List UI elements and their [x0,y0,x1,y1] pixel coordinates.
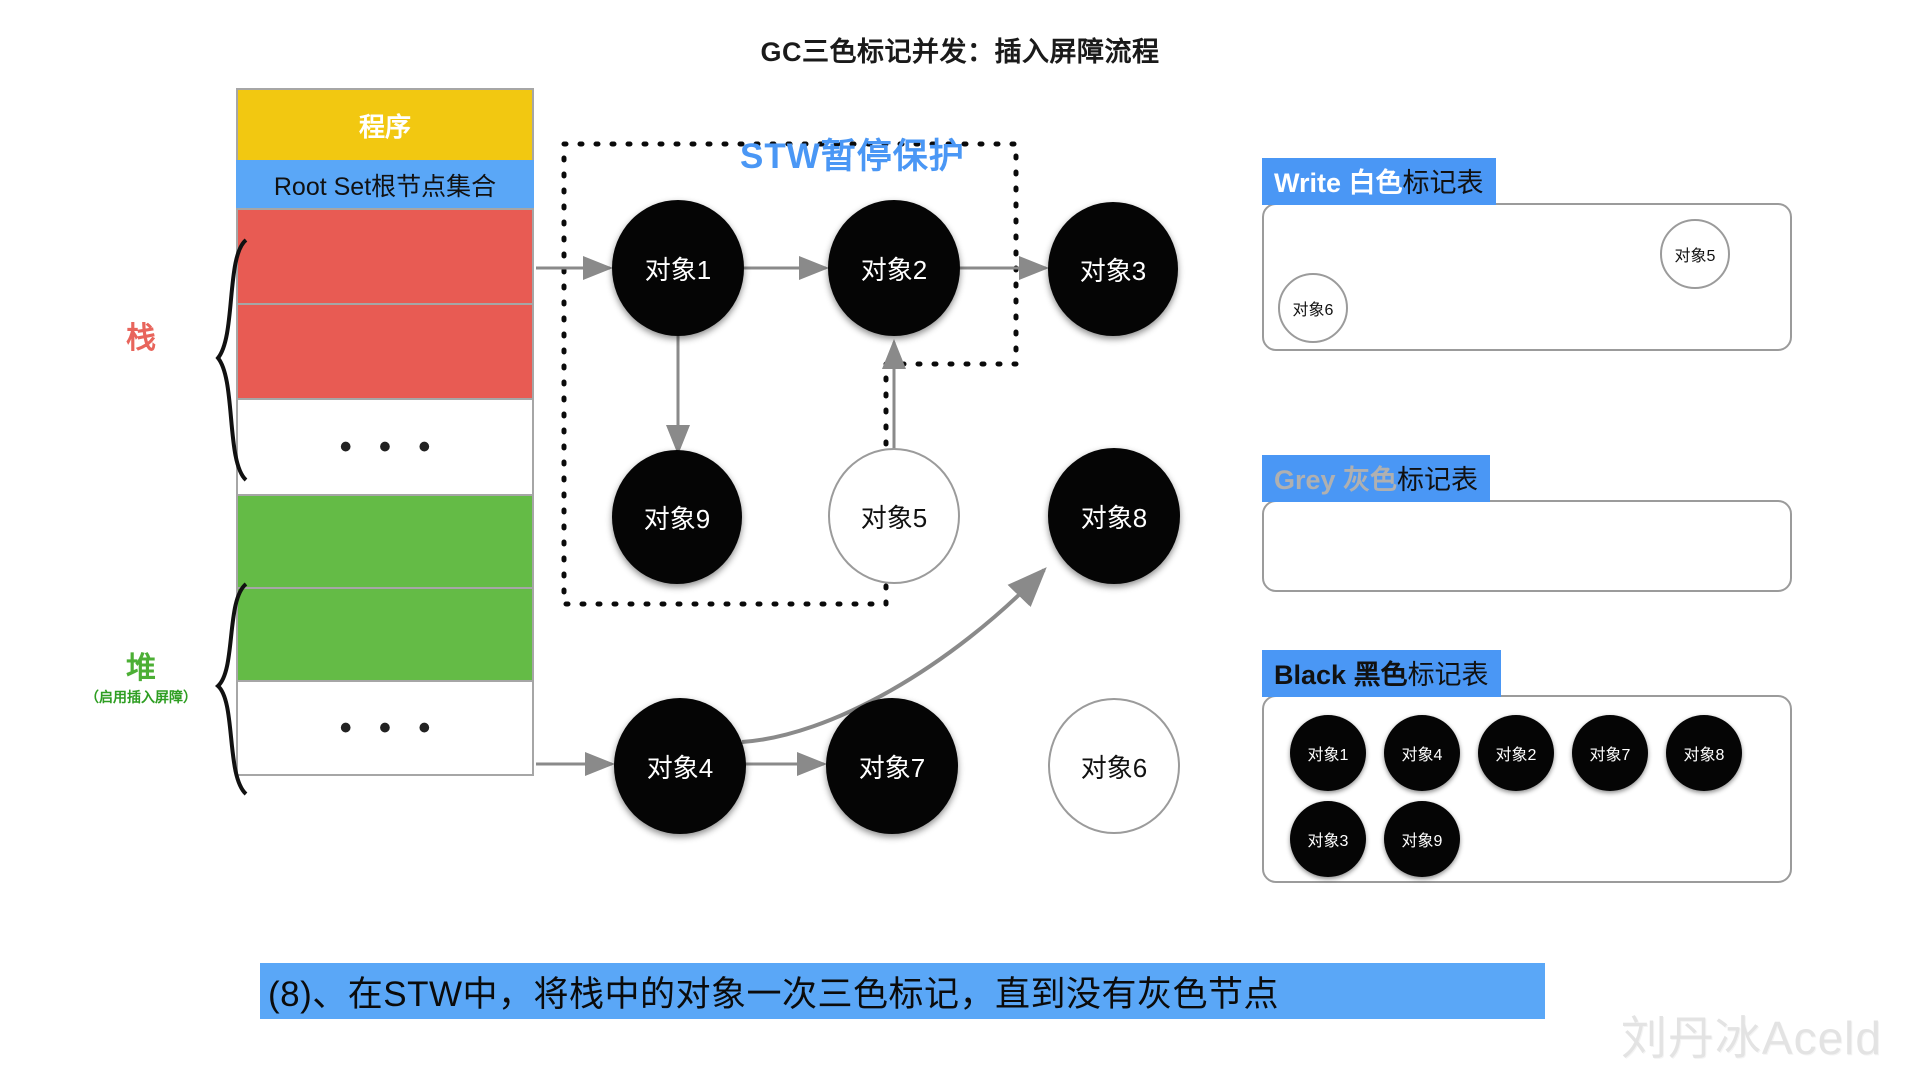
mark-chip[interactable]: 对象9 [1384,801,1460,877]
watermark: 刘丹冰Aceld [1621,1002,1882,1068]
header-rest: 标记表 [1403,168,1484,198]
node-label: 对象3 [1080,251,1146,288]
header-rest: 标记表 [1408,660,1489,690]
node-label: 对象6 [1081,748,1147,785]
graph-node-obj1[interactable]: 对象1 [612,200,744,336]
chip-label: 对象7 [1590,741,1631,765]
node-label: 对象4 [647,748,713,785]
header-color-cn: 黑色 [1354,660,1408,690]
white-mark-table-body: 对象5 对象6 [1262,203,1792,351]
mark-chip[interactable]: 对象4 [1384,715,1460,791]
header-en: Write [1274,168,1349,198]
graph-node-obj6[interactable]: 对象6 [1048,698,1180,834]
header-en: Black [1274,660,1354,690]
black-mark-table-header: Black 黑色标记表 [1262,650,1501,697]
node-label: 对象5 [861,498,927,535]
node-label: 对象8 [1081,498,1147,535]
caption-bar: (8)、在STW中，将栈中的对象一次三色标记，直到没有灰色节点 [260,963,1545,1019]
black-mark-table: Black 黑色标记表 对象1 对象4 对象2 对象7 对象8 对象3 对象9 [1262,650,1792,883]
mark-chip[interactable]: 对象6 [1278,273,1348,343]
chip-label: 对象4 [1402,741,1443,765]
node-label: 对象2 [861,250,927,287]
mark-chip[interactable]: 对象7 [1572,715,1648,791]
mark-chip[interactable]: 对象8 [1666,715,1742,791]
chip-label: 对象2 [1496,741,1537,765]
mark-chip[interactable]: 对象3 [1290,801,1366,877]
chip-label: 对象9 [1402,827,1443,851]
mark-chip[interactable]: 对象1 [1290,715,1366,791]
graph-node-obj5[interactable]: 对象5 [828,448,960,584]
stw-title: STW暂停保护 [740,128,965,179]
header-en: Grey [1274,465,1343,495]
graph-node-obj2[interactable]: 对象2 [828,200,960,336]
white-mark-table-header: Write 白色标记表 [1262,158,1496,205]
grey-mark-table: Grey 灰色标记表 [1262,455,1792,592]
chip-label: 对象5 [1675,242,1716,266]
grey-mark-table-header: Grey 灰色标记表 [1262,455,1490,502]
caption-text: (8)、在STW中，将栈中的对象一次三色标记，直到没有灰色节点 [268,966,1279,1017]
node-label: 对象9 [644,499,710,536]
node-label: 对象1 [645,250,711,287]
chip-label: 对象1 [1308,741,1349,765]
mark-chip[interactable]: 对象5 [1660,219,1730,289]
header-rest: 标记表 [1397,465,1478,495]
grey-mark-table-body [1262,500,1792,592]
node-label: 对象7 [859,748,925,785]
graph-node-obj7[interactable]: 对象7 [826,698,958,834]
chip-label: 对象6 [1293,296,1334,320]
black-mark-table-body: 对象1 对象4 对象2 对象7 对象8 对象3 对象9 [1262,695,1792,883]
mark-chip[interactable]: 对象2 [1478,715,1554,791]
header-color-cn: 灰色 [1343,465,1397,495]
graph-node-obj4[interactable]: 对象4 [614,698,746,834]
graph-node-obj8[interactable]: 对象8 [1048,448,1180,584]
graph-node-obj3[interactable]: 对象3 [1048,202,1178,336]
graph-node-obj9[interactable]: 对象9 [612,450,742,584]
chip-label: 对象3 [1308,827,1349,851]
chip-label: 对象8 [1684,741,1725,765]
white-mark-table: Write 白色标记表 对象5 对象6 [1262,158,1792,351]
header-color-cn: 白色 [1349,168,1403,198]
